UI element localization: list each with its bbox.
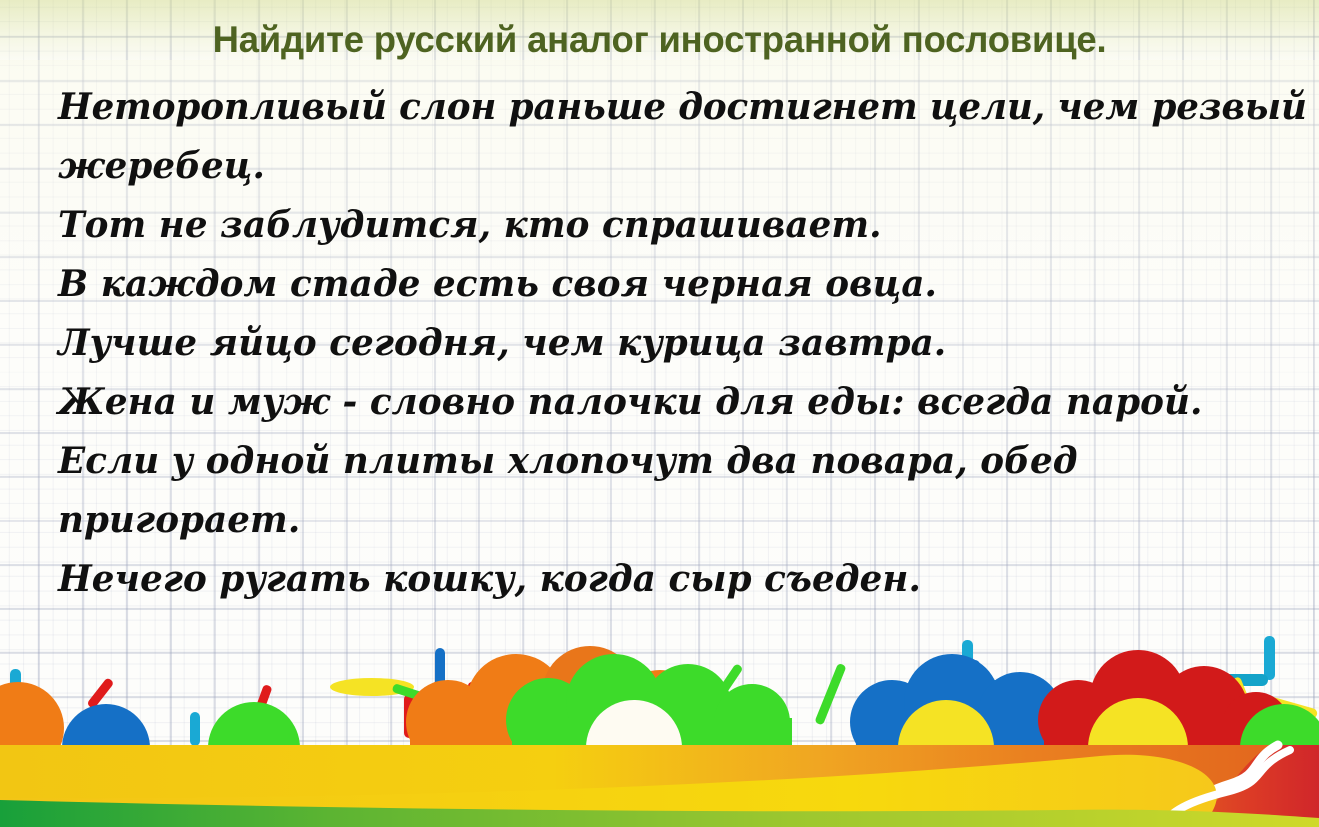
proverb-line: пригорает.	[58, 491, 1276, 550]
page-title: Найдите русский аналог иностранной посло…	[10, 21, 1309, 60]
proverb-line: Жена и муж - словно палочки для еды: все…	[58, 373, 1276, 432]
proverb-line: Лучше яйцо сегодня, чем курица завтра.	[58, 314, 1276, 373]
proverb-line: Нечего ругать кошку, когда сыр съеден.	[58, 550, 1276, 609]
proverb-line: Тот не заблудится, кто спрашивает.	[58, 196, 1276, 255]
proverb-line: жеребец.	[58, 137, 1276, 196]
proverb-line: Если у одной плиты хлопочут два повара, …	[58, 432, 1276, 491]
slide-canvas: Найдите русский аналог иностранной посло…	[0, 0, 1319, 827]
proverb-list: Неторопливый слон раньше достигнет цели,…	[58, 78, 1288, 609]
proverb-line: В каждом стаде есть своя черная овца.	[58, 255, 1276, 314]
proverb-line: Неторопливый слон раньше достигнет цели,…	[58, 78, 1276, 137]
